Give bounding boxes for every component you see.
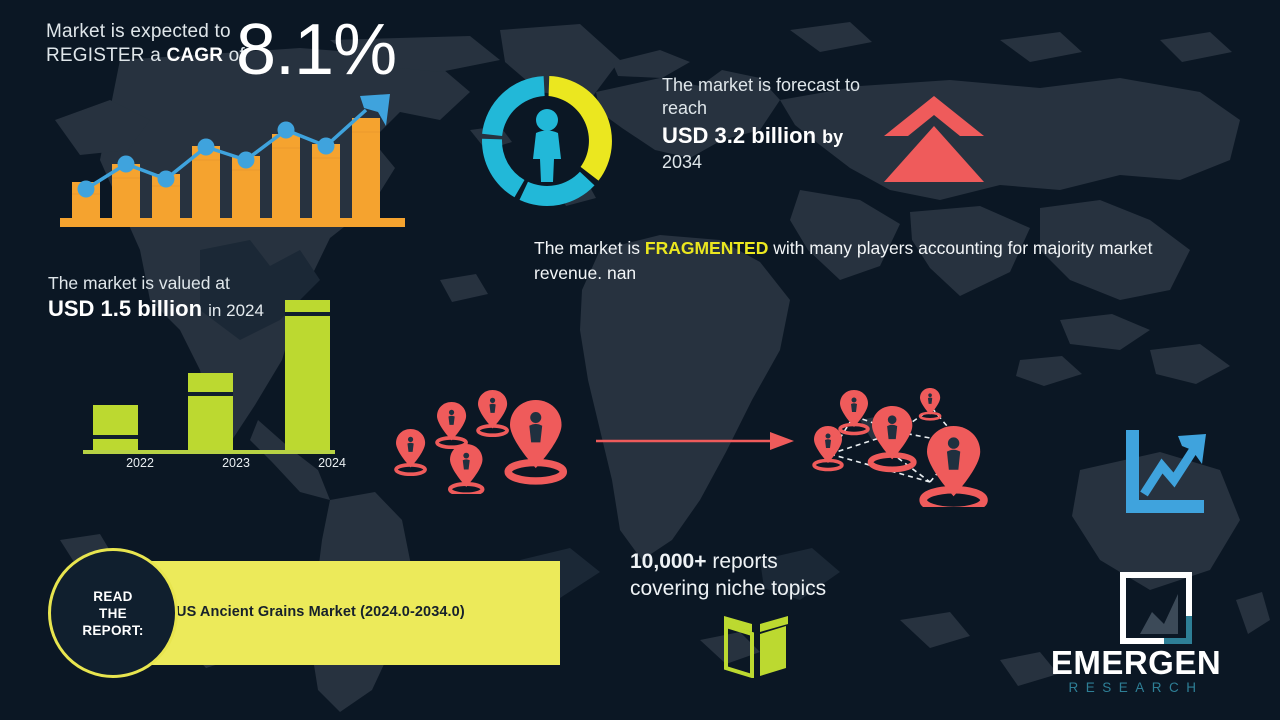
bar-2024 [285, 300, 330, 450]
map-pin-cluster-right-networked [802, 382, 1017, 507]
read-line1: READ [93, 589, 132, 604]
forecast-lead-line2: reach [662, 98, 707, 118]
map-pin-person-icon [840, 390, 868, 434]
map-pin-cluster-left [382, 384, 582, 494]
cagr-lead-line1: Market is expected to [46, 21, 231, 42]
fragmentation-prefix: The market is [534, 238, 645, 258]
map-pin-person-icon [478, 390, 507, 435]
emergen-research-logo[interactable]: EMERGEN RESEARCH [1016, 572, 1256, 702]
green-bar-label-2022: 2022 [110, 456, 170, 470]
right-arrow-icon [596, 430, 796, 452]
donut-slice-cyan-1 [520, 172, 595, 206]
fragmentation-highlight: FRAGMENTED [645, 238, 768, 258]
report-title: US Ancient Grains Market (2024.0-2034.0) [176, 604, 465, 620]
triple-chevron-up-icon [884, 96, 984, 182]
reports-count: 10,000+ [630, 550, 707, 573]
cagr-lead-line2-a: REGISTER a [46, 45, 166, 66]
person-icon [533, 109, 561, 182]
market-share-donut-chart [458, 52, 636, 230]
green-bar-label-2024: 2024 [302, 456, 362, 470]
map-pin-person-icon [814, 426, 842, 470]
reports-line1: 10,000+ reports [630, 548, 930, 575]
reports-count-suffix: reports [707, 550, 778, 573]
forecast-value-row: USD 3.2 billion by [662, 122, 892, 151]
open-book-icon [718, 612, 794, 678]
green-bar-label-2023: 2023 [206, 456, 266, 470]
map-pin-person-icon [923, 426, 984, 507]
green-chart-baseline [83, 450, 335, 454]
cagr-value: 8.1% [236, 14, 396, 86]
fragmentation-text: The market is FRAGMENTED with many playe… [534, 236, 1212, 286]
forecast-lead: The market is forecast to reach [662, 74, 892, 120]
bar-2023 [188, 373, 233, 450]
cagr-lead-text: Market is expected toREGISTER a CAGR of [46, 20, 246, 68]
read-line3: REPORT: [82, 623, 143, 638]
logo-name: EMERGEN [1016, 646, 1256, 680]
donut-slice-cyan-2 [482, 139, 524, 198]
forecast-year: 2034 [662, 151, 892, 173]
historic-growth-bar-chart [60, 82, 420, 227]
fragmentation-block: The market is FRAGMENTED with many playe… [534, 236, 1212, 286]
cagr-block: Market is expected toREGISTER a CAGR of … [46, 20, 466, 68]
bar-2022 [93, 405, 138, 450]
infographic-canvas: Market is expected toREGISTER a CAGR of … [0, 0, 1280, 720]
line-chart-up-arrow-icon [1120, 424, 1210, 516]
reports-block: 10,000+ reports covering niche topics [630, 548, 930, 602]
map-pin-person-icon [450, 444, 482, 494]
forecast-value: USD 3.2 billion [662, 123, 816, 148]
map-pin-person-icon [437, 402, 466, 447]
cagr-keyword: CAGR [166, 45, 223, 66]
map-pin-person-icon [508, 400, 563, 481]
forecast-by-word: by [822, 127, 843, 147]
reports-line2: covering niche topics [630, 575, 930, 602]
map-pin-person-icon [396, 429, 425, 474]
donut-slice-yellow [549, 76, 612, 181]
content-layer: Market is expected toREGISTER a CAGR of … [0, 0, 1280, 720]
forecast-lead-line1: The market is forecast to [662, 75, 860, 95]
green-bar-group [93, 300, 330, 450]
donut-slice-cyan-3 [482, 76, 545, 136]
map-pin-person-icon [871, 406, 914, 469]
logo-subtitle: RESEARCH [1016, 680, 1256, 695]
map-pin-person-icon [920, 388, 940, 419]
read-the-report-label: READ THE REPORT: [82, 588, 143, 639]
read-the-report-button[interactable]: READ THE REPORT: [48, 548, 178, 678]
market-value-bar-chart [75, 288, 340, 473]
forecast-block: The market is forecast to reach USD 3.2 … [662, 74, 892, 173]
read-line2: THE [99, 606, 127, 621]
chart-baseline [60, 218, 405, 227]
square-chart-mark-icon [1120, 572, 1192, 644]
